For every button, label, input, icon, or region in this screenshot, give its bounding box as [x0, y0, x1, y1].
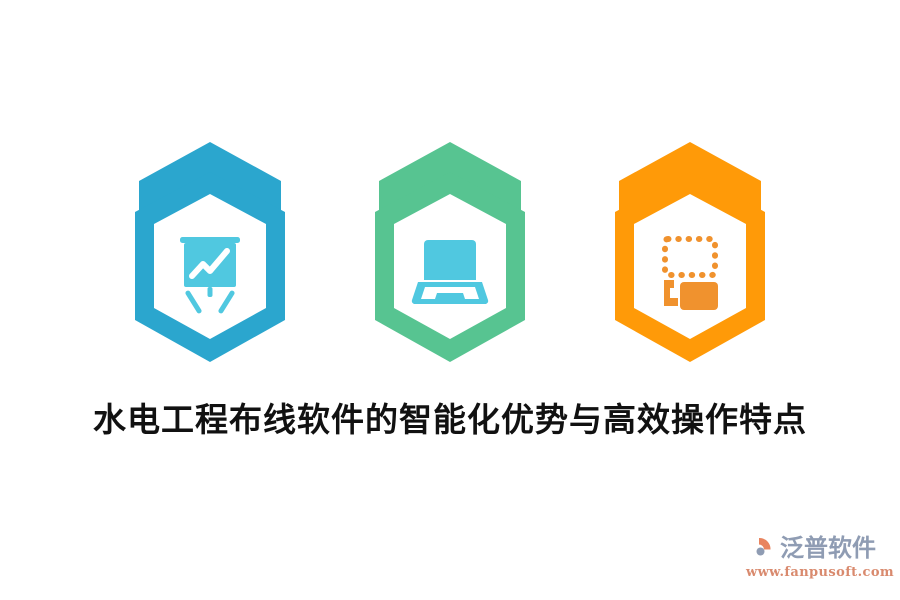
badge-laptop: [370, 140, 530, 365]
solid-block: [680, 282, 718, 310]
brand-watermark-row: 泛普软件: [746, 532, 886, 564]
dotted-selection-rect: [665, 239, 715, 275]
laptop-icon: [412, 240, 488, 304]
selection-tool-icon: [664, 239, 718, 310]
poster-canvas: 水电工程布线软件的智能化优势与高效操作特点 泛普软件 www.fanpusoft…: [0, 0, 900, 600]
badge-presentation-graphic: [130, 140, 290, 365]
brand-watermark: 泛普软件 www.fanpusoft.com: [746, 532, 886, 586]
badge-presentation: [130, 140, 290, 365]
page-title: 水电工程布线软件的智能化优势与高效操作特点: [0, 398, 900, 442]
corner-handle: [664, 280, 678, 306]
badge-laptop-graphic: [370, 140, 530, 365]
badge-row: [0, 140, 900, 365]
badge-selection-graphic: [610, 140, 770, 365]
presentation-chart-icon: [180, 237, 240, 314]
hexagon-outline: [615, 172, 765, 362]
brand-name: 泛普软件: [780, 533, 876, 563]
fanpu-logo-icon: [746, 533, 776, 563]
brand-url: www.fanpusoft.com: [746, 565, 886, 580]
badge-selection: [610, 140, 770, 365]
